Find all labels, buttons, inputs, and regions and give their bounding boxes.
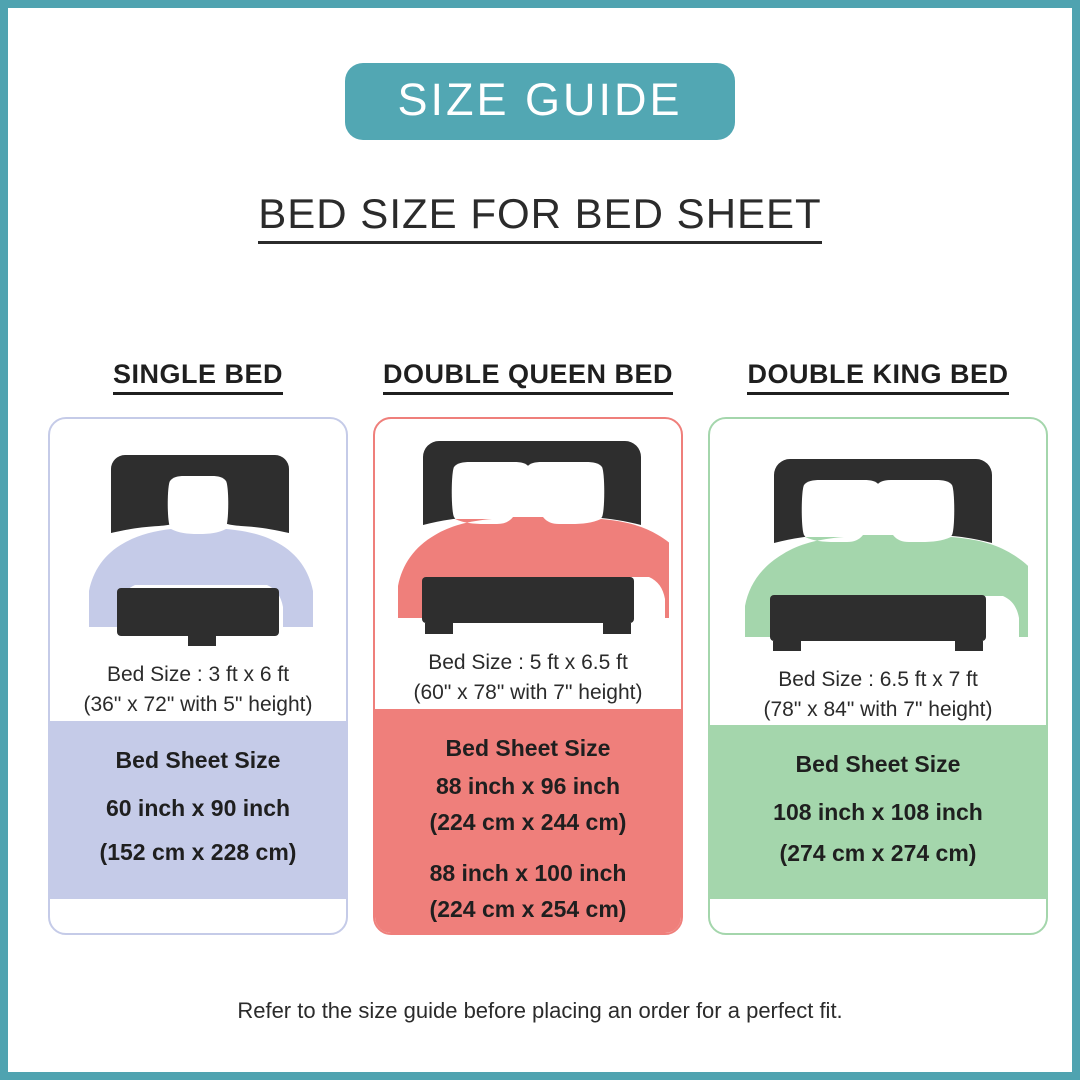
- size-guide-badge: SIZE GUIDE: [345, 63, 734, 140]
- sheet-size-band-queen: Bed Sheet Size 88 inch x 96 inch (224 cm…: [375, 709, 681, 935]
- sheet-size-cm: (274 cm x 274 cm): [718, 833, 1038, 874]
- bed-size-line-1: Bed Size : 6.5 ft x 7 ft: [714, 665, 1042, 695]
- sheet-size-cm: (152 cm x 228 cm): [58, 831, 338, 875]
- bed-illustration-single: [50, 419, 346, 646]
- single-bed-icon: [73, 441, 323, 646]
- sheet-size-group: 88 inch x 96 inch (224 cm x 244 cm): [383, 769, 673, 840]
- footer-note: Refer to the size guide before placing a…: [8, 998, 1072, 1024]
- page-title-container: BED SIZE FOR BED SHEET: [8, 191, 1072, 244]
- sheet-size-title: Bed Sheet Size: [58, 743, 338, 778]
- double-queen-bed-icon: [387, 429, 669, 634]
- sheet-size-inch: 88 inch x 96 inch: [383, 769, 673, 805]
- card-single-bed: Bed Size : 3 ft x 6 ft (36" x 72" with 5…: [48, 417, 348, 935]
- column-heading-queen: DOUBLE QUEEN BED: [383, 360, 673, 395]
- bed-size-text-single: Bed Size : 3 ft x 6 ft (36" x 72" with 5…: [50, 646, 346, 721]
- sheet-size-title: Bed Sheet Size: [718, 747, 1038, 782]
- sheet-size-group: 108 inch x 108 inch (274 cm x 274 cm): [718, 792, 1038, 875]
- page-title: BED SIZE FOR BED SHEET: [258, 191, 821, 244]
- sheet-size-inch: 60 inch x 90 inch: [58, 787, 338, 831]
- double-king-bed-icon: [728, 446, 1028, 651]
- sheet-size-group-alt: 88 inch x 100 inch (224 cm x 254 cm): [383, 856, 673, 927]
- sheet-size-band-king: Bed Sheet Size 108 inch x 108 inch (274 …: [710, 725, 1046, 898]
- bed-size-line-1: Bed Size : 5 ft x 6.5 ft: [379, 648, 677, 678]
- card-double-king-bed: Bed Size : 6.5 ft x 7 ft (78" x 84" with…: [708, 417, 1048, 935]
- sheet-size-cm-alt: (224 cm x 254 cm): [383, 892, 673, 928]
- card-double-queen-bed: Bed Size : 5 ft x 6.5 ft (60" x 78" with…: [373, 417, 683, 935]
- sheet-size-title: Bed Sheet Size: [383, 731, 673, 766]
- column-heading-single: SINGLE BED: [113, 360, 283, 395]
- bed-size-line-2: (78" x 84" with 7" height): [714, 695, 1042, 725]
- bed-size-text-queen: Bed Size : 5 ft x 6.5 ft (60" x 78" with…: [375, 634, 681, 709]
- column-double-king-bed: DOUBLE KING BED: [708, 360, 1048, 935]
- column-double-queen-bed: DOUBLE QUEEN BED: [373, 360, 683, 935]
- sheet-size-inch-alt: 88 inch x 100 inch: [383, 856, 673, 892]
- bed-illustration-queen: [375, 419, 681, 634]
- bed-size-line-2: (36" x 72" with 5" height): [54, 690, 342, 720]
- size-guide-infographic: SIZE GUIDE BED SIZE FOR BED SHEET SINGLE…: [0, 0, 1080, 1080]
- badge-container: SIZE GUIDE: [8, 63, 1072, 140]
- bed-size-line-1: Bed Size : 3 ft x 6 ft: [54, 660, 342, 690]
- column-single-bed: SINGLE BED: [48, 360, 348, 935]
- bed-illustration-king: [710, 419, 1046, 651]
- bed-size-line-2: (60" x 78" with 7" height): [379, 678, 677, 708]
- bed-columns: SINGLE BED: [48, 360, 1048, 935]
- column-heading-king: DOUBLE KING BED: [747, 360, 1008, 395]
- sheet-size-inch: 108 inch x 108 inch: [718, 792, 1038, 833]
- bed-size-text-king: Bed Size : 6.5 ft x 7 ft (78" x 84" with…: [710, 651, 1046, 726]
- sheet-size-group: 60 inch x 90 inch (152 cm x 228 cm): [58, 787, 338, 874]
- sheet-size-band-single: Bed Sheet Size 60 inch x 90 inch (152 cm…: [50, 721, 346, 899]
- sheet-size-cm: (224 cm x 244 cm): [383, 805, 673, 841]
